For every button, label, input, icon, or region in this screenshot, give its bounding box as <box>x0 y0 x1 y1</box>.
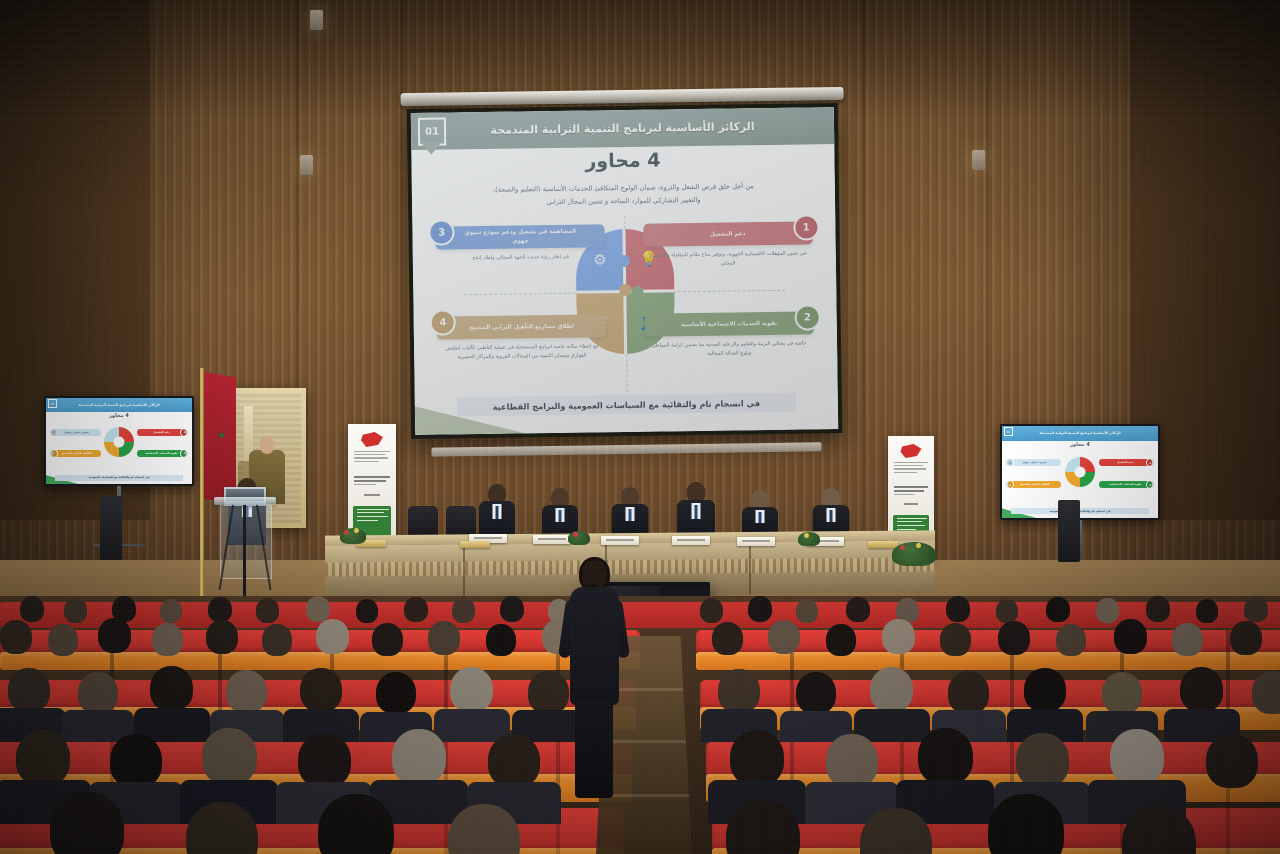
left-mini-pill-2: تقوية الخدمات الاجتماعية 2 <box>137 450 187 457</box>
wall-sconce <box>300 155 313 175</box>
left-mini-pill-3-label: نموذج تنموي جهوي <box>64 431 89 434</box>
audience-head <box>428 621 460 655</box>
audience-head <box>486 624 516 656</box>
right-banner-heading-lines <box>894 462 929 475</box>
left-mini-pie-chart <box>104 427 134 457</box>
audience-head <box>870 667 913 712</box>
axis-2-pill: تقوية الخدمات الاجتماعية الأساسية 2 <box>644 312 813 337</box>
right-side-monitor: الركائز الأساسية لبرنامج التنمية الترابي… <box>1000 424 1160 520</box>
portrait-figure-head <box>260 436 275 454</box>
table-flower-arrangement <box>340 528 366 544</box>
screen-frame: الركائز الأساسية لبرنامج التنمية الترابي… <box>407 103 843 439</box>
right-banner-program-lines <box>894 486 929 497</box>
screen-canvas: الركائز الأساسية لبرنامج التنمية الترابي… <box>411 107 838 435</box>
projection-screen: الركائز الأساسية لبرنامج التنمية الترابي… <box>407 97 843 443</box>
audience-head <box>768 620 800 654</box>
table-flower-arrangement <box>568 531 590 545</box>
audience-head <box>1024 668 1066 712</box>
right-monitor-screen: الركائز الأساسية لبرنامج التنمية الترابي… <box>1002 426 1158 518</box>
puzzle-knob <box>631 286 643 298</box>
slide-title: 4 محاور <box>411 147 834 175</box>
audience-head <box>300 668 342 712</box>
right-monitor-slide: الركائز الأساسية لبرنامج التنمية الترابي… <box>1002 426 1158 518</box>
right-mini-header: الركائز الأساسية لبرنامج التنمية الترابي… <box>1002 426 1158 441</box>
table-flower-arrangement <box>798 532 820 546</box>
left-banner-program-lines <box>354 476 391 487</box>
standing-person-torso <box>570 587 619 705</box>
audience-head <box>1096 598 1119 623</box>
audience-head <box>1056 624 1086 656</box>
audience-head <box>452 598 475 623</box>
pa-speaker-left <box>100 496 122 560</box>
audience-head <box>730 730 784 786</box>
table-gold-plaque <box>868 541 898 548</box>
right-mini-pill-4-label: التأهيل الترابي المندمج <box>1020 483 1050 486</box>
audience-head <box>356 599 378 623</box>
audience-head <box>712 622 743 655</box>
panelist-2-tie <box>559 510 562 522</box>
right-monitor-frame: الركائز الأساسية لبرنامج التنمية الترابي… <box>1000 424 1160 520</box>
audience-head <box>748 596 772 622</box>
audience-head <box>1146 596 1170 622</box>
audience-head <box>372 623 403 656</box>
right-mini-pill-2-number: 2 <box>1146 480 1155 489</box>
audience-head <box>392 729 446 785</box>
audience-head <box>376 672 416 714</box>
audience-head <box>996 599 1018 623</box>
audience-head <box>0 620 32 654</box>
right-mini-pill-3-label: نموذج تنموي جهوي <box>1022 461 1047 464</box>
pa-speaker-right <box>1058 500 1080 562</box>
stage-plant <box>892 542 936 566</box>
audience-head <box>1110 729 1164 785</box>
podium <box>214 497 276 602</box>
panelist-4-tie <box>695 505 698 519</box>
podium-top <box>214 497 276 505</box>
audience-head <box>1102 672 1142 714</box>
panelist-1-tie <box>496 506 499 519</box>
audience-head <box>918 728 973 785</box>
audience-head <box>450 667 493 712</box>
right-mini-pill-1: دعم التشغيل 1 <box>1099 459 1152 466</box>
axis-4-number: 4 <box>430 310 456 336</box>
left-mini-pill-3-number: 3 <box>49 428 58 437</box>
right-mini-pill-1-label: دعم التشغيل <box>1117 461 1133 464</box>
axis-1-label: دعم التشغيل <box>710 230 746 239</box>
audience-head <box>500 596 524 622</box>
left-mini-pill-1-label: دعم التشغيل <box>153 431 169 434</box>
puzzle-knob <box>619 284 631 296</box>
audience-head <box>488 734 540 788</box>
slide-header: الركائز الأساسية لبرنامج التنمية الترابي… <box>411 107 834 150</box>
left-mini-header: الركائز الأساسية لبرنامج التنمية الترابي… <box>46 398 192 412</box>
nameplate <box>737 537 775 546</box>
right-mini-pie-chart <box>1065 457 1095 487</box>
nameplate <box>533 535 571 544</box>
audience-head <box>78 672 118 714</box>
axis-2-label: تقوية الخدمات الاجتماعية الأساسية <box>681 320 777 330</box>
axis-4-pill: اطلاق مشاريع التأهيل الترابي المندمج 4 <box>437 315 606 340</box>
audience-head <box>1230 621 1262 655</box>
audience-head <box>940 623 971 656</box>
audience-head <box>256 598 279 623</box>
audience-head <box>20 596 44 622</box>
axis-3-block: المساهمة في تشغيل ودعم نموذج تنموي جهوي … <box>436 225 606 264</box>
table-gold-plaque <box>460 541 490 548</box>
audience-head <box>700 598 723 623</box>
axis-1-note: عبر تثمين المؤهلات الاقتصادية الجهوية، و… <box>643 250 812 270</box>
audience-head <box>948 671 989 714</box>
audience-head <box>1046 597 1070 622</box>
axis-2-block: تقوية الخدمات الاجتماعية الأساسية 2 خاصة… <box>644 312 814 360</box>
left-mini-pill-2-label: تقوية الخدمات الاجتماعية <box>145 452 177 455</box>
conference-hall-photo: الركائز الأساسية لبرنامج التنمية الترابي… <box>0 0 1280 854</box>
audience-head <box>1196 599 1218 623</box>
flag-pole <box>200 368 204 618</box>
podium-stem <box>243 505 246 601</box>
slide-subtitle: من أجل خلق فرص الشغل والثروة، ضمان الولو… <box>412 179 835 209</box>
left-mini-pill-4-number: 4 <box>49 449 58 458</box>
right-banner-year <box>894 503 929 505</box>
audience-head <box>796 599 818 623</box>
right-mini-pill-3-number: 3 <box>1005 458 1014 467</box>
left-mini-pill-1-number: 1 <box>180 428 189 437</box>
seat-row-back <box>0 602 1280 628</box>
audience-head <box>718 669 760 713</box>
flag-star-icon: ✦ <box>216 430 227 443</box>
axis-3-pill: المساهمة في تشغيل ودعم نموذج تنموي جهوي … <box>436 225 605 250</box>
morocco-map-icon <box>901 444 922 458</box>
audience-head <box>160 599 182 623</box>
audience-head <box>404 597 428 622</box>
audience-head <box>528 671 569 714</box>
audience-head <box>206 620 238 654</box>
audience-area <box>0 596 1280 854</box>
audience-head <box>306 596 330 622</box>
audience-head <box>826 624 856 656</box>
standing-person-in-aisle <box>566 560 622 798</box>
audience-head <box>796 672 836 714</box>
audience-head-front <box>50 792 124 854</box>
audience-head <box>1180 667 1223 712</box>
left-banner-heading-lines <box>354 451 391 464</box>
audience-head <box>882 619 915 654</box>
right-mini-title: 4 محاور <box>1002 442 1158 448</box>
panelist-5-tie <box>759 512 762 523</box>
right-mini-pill-4-number: 4 <box>1005 480 1014 489</box>
left-monitor-frame: الركائز الأساسية لبرنامج التنمية الترابي… <box>44 396 194 486</box>
left-side-monitor: الركائز الأساسية لبرنامج التنمية الترابي… <box>44 396 194 486</box>
audience-head <box>110 734 162 788</box>
left-mini-pill-3: نموذج تنموي جهوي 3 <box>52 429 102 436</box>
left-mini-title: 4 محاور <box>46 413 192 419</box>
left-mini-pill-4-label: التأهيل الترابي المندمج <box>62 452 92 455</box>
audience-head <box>946 596 970 622</box>
audience-head <box>98 618 131 653</box>
left-banner-year <box>354 494 391 496</box>
puzzle-knob <box>632 317 644 329</box>
axis-4-label: اطلاق مشاريع التأهيل الترابي المندمج <box>469 322 574 332</box>
slide-footer-banner: في انسجام تام والتقائية مع السياسات العم… <box>457 393 796 417</box>
audience-head <box>16 730 70 786</box>
right-mini-pill-4: التأهيل الترابي المندمج 4 <box>1008 481 1061 488</box>
axis-4-block: اطلاق مشاريع التأهيل الترابي المندمج 4 م… <box>437 315 607 363</box>
audience-head <box>152 623 183 656</box>
audience-head <box>226 670 267 713</box>
right-mini-pill-2-label: تقوية الخدمات الاجتماعية <box>1109 483 1141 486</box>
left-mini-footer: في انسجام تام والتقائية مع السياسات العم… <box>55 475 184 481</box>
axis-4-note: مع إعطاء مكانة خاصة لبرامج المستعجلة في … <box>437 343 606 363</box>
presentation-slide: الركائز الأساسية لبرنامج التنمية الترابي… <box>411 107 838 435</box>
audience-head <box>1206 734 1258 788</box>
audience-head <box>1244 597 1268 622</box>
axis-3-number: 3 <box>429 220 455 246</box>
axis-2-number: 2 <box>794 305 820 331</box>
left-mini-badge: 01 <box>48 399 57 408</box>
audience-head <box>316 619 349 654</box>
left-mini-header-title: الركائز الأساسية لبرنامج التنمية الترابي… <box>78 403 159 407</box>
left-mini-pill-4: التأهيل الترابي المندمج 4 <box>52 450 102 457</box>
right-mini-pill-3: نموذج تنموي جهوي 3 <box>1008 459 1061 466</box>
morocco-map-icon <box>361 432 383 447</box>
wall-sconce <box>972 150 985 170</box>
audience-head <box>826 734 878 788</box>
audience-head <box>1172 623 1203 656</box>
audience-head <box>298 733 351 788</box>
right-mini-badge: 01 <box>1004 427 1013 436</box>
audience-head <box>208 597 232 622</box>
nameplate <box>601 536 639 545</box>
puzzle-knob <box>617 255 629 267</box>
panelist-6-tie <box>829 510 832 522</box>
panelist-3-tie <box>628 509 631 521</box>
axis-1-block: دعم التشغيل 1 عبر تثمين المؤهلات الاقتصا… <box>643 222 813 270</box>
standing-person-legs <box>575 700 613 798</box>
axis-1-number: 1 <box>793 215 819 241</box>
audience-head <box>998 621 1030 655</box>
axis-1-pill: دعم التشغيل 1 <box>643 222 812 247</box>
audience-head <box>64 598 87 623</box>
axis-3-label: المساهمة في تشغيل ودعم نموذج تنموي جهوي <box>462 228 579 246</box>
left-mini-pill-1: دعم التشغيل 1 <box>137 429 187 436</box>
right-mini-header-title: الركائز الأساسية لبرنامج التنمية الترابي… <box>1039 431 1120 435</box>
audience-head <box>202 728 257 785</box>
left-mini-pill-2-number: 2 <box>180 449 189 458</box>
head-table-seam <box>749 542 751 594</box>
audience-head <box>1114 619 1147 654</box>
right-mini-footer: في انسجام تام والتقائية مع السياسات العم… <box>1011 508 1148 514</box>
axis-2-note: خاصة في مجالي التربية والتعليم والرعاية … <box>645 340 814 360</box>
left-monitor-slide: الركائز الأساسية لبرنامج التنمية الترابي… <box>46 398 192 484</box>
left-monitor-screen: الركائز الأساسية لبرنامج التنمية الترابي… <box>46 398 192 484</box>
wall-sconce <box>310 10 323 30</box>
audience-head <box>8 668 50 712</box>
audience-head <box>48 624 78 656</box>
audience-head <box>1252 671 1280 714</box>
head-table-seam <box>463 544 465 596</box>
audience-head <box>1016 733 1069 788</box>
right-mini-pill-1-number: 1 <box>1146 458 1155 467</box>
audience-head <box>150 666 193 711</box>
nameplate <box>672 536 710 545</box>
audience-head <box>846 597 870 622</box>
slide-header-title: الركائز الأساسية لبرنامج التنمية الترابي… <box>490 120 754 137</box>
audience-head <box>262 624 292 656</box>
right-mini-pill-2: تقوية الخدمات الاجتماعية 2 <box>1099 481 1152 488</box>
